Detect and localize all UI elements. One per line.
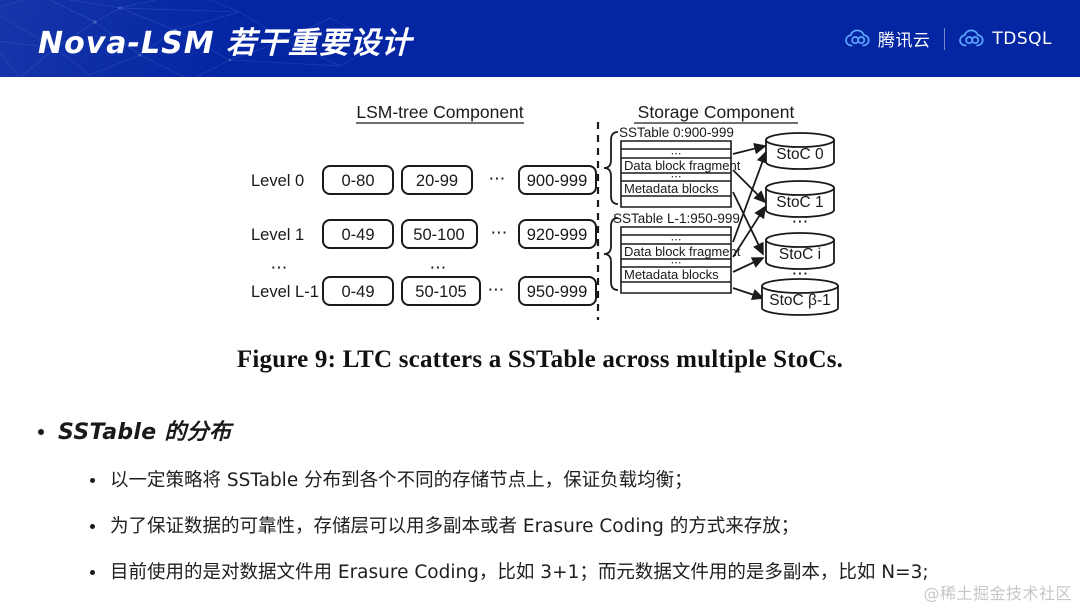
figure-caption: Figure 9: LTC scatters a SSTable across … xyxy=(0,346,1080,374)
lsm-box-l0-0-label: 0-80 xyxy=(341,172,374,190)
bullet-dot-icon xyxy=(90,478,95,483)
bullet-dot-icon xyxy=(38,429,44,435)
lsm-box-l0-last-label: 900-999 xyxy=(527,172,588,190)
lsm-level-0-label: Level 0 xyxy=(251,172,304,190)
bullet-item-2-label: 为了保证数据的可靠性，存储层可以用多副本或者 Erasure Coding 的方… xyxy=(110,516,799,537)
bullet-heading: SSTable 的分布 xyxy=(58,418,1080,448)
tencent-cloud-logo: 腾讯云 xyxy=(845,26,931,51)
storage-heading: Storage Component xyxy=(638,102,795,122)
lsm-level-l1-label: Level L-1 xyxy=(251,283,319,301)
sstable-0-row-3: Metadata blocks xyxy=(624,181,719,196)
bullet-dot-icon xyxy=(90,570,95,575)
sstable-0-brace xyxy=(604,132,618,204)
sstable-0-row-1: Data block fragment xyxy=(624,158,741,173)
stoc-i-label: StoC i xyxy=(779,246,821,263)
lsm-level-1-label: Level 1 xyxy=(251,226,304,244)
tencent-cloud-logo-label: 腾讯云 xyxy=(878,26,931,51)
lsm-gap-ellipsis-mid: ⋯ xyxy=(430,258,447,277)
page-title: Nova-LSM 若干重要设计 xyxy=(38,18,412,62)
tdsql-logo: TDSQL xyxy=(959,29,1052,49)
lsm-box-l0-1-label: 20-99 xyxy=(416,172,458,190)
lsm-box-ll-last-label: 950-999 xyxy=(527,283,588,301)
lsm-box-ll-1-label: 50-105 xyxy=(415,283,466,301)
sstable-l1-label: SSTable L-1:950-999 xyxy=(613,211,740,226)
tencent-cloud-logo-icon xyxy=(845,29,871,48)
sstable-l1-row-3: Metadata blocks xyxy=(624,267,719,282)
stoc-0-label: StoC 0 xyxy=(776,146,824,163)
lsm-box-l1-1-label: 50-100 xyxy=(413,226,464,244)
lsm-box-l1-last-label: 920-999 xyxy=(527,226,588,244)
page-header: Nova-LSM 若干重要设计 腾讯云 TDSQL xyxy=(0,0,1080,77)
stoc-beta-label: StoC β-1 xyxy=(769,292,830,309)
logo-divider xyxy=(944,28,945,50)
lsm-heading: LSM-tree Component xyxy=(356,102,523,122)
bullet-item-2: 为了保证数据的可靠性，存储层可以用多副本或者 Erasure Coding 的方… xyxy=(110,514,1080,540)
sstable-0-block: ⋯ Data block fragment ⋯ Metadata blocks xyxy=(621,141,741,207)
stoc-beta: StoC β-1 xyxy=(762,279,838,315)
bullet-item-1-label: 以一定策略将 SSTable 分布到各个不同的存储节点上，保证负载均衡； xyxy=(110,470,693,491)
sstable-l1-block: ⋯ Data block fragment ⋯ Metadata blocks xyxy=(621,227,741,293)
lsm-row-2-ellipsis: ⋯ xyxy=(488,280,505,299)
bullet-item-3-label: 目前使用的是对数据文件用 Erasure Coding，比如 3+1；而元数据文… xyxy=(110,562,929,583)
lsm-box-l1-0-label: 0-49 xyxy=(341,226,374,244)
stoc-ellipsis-0: ⋯ xyxy=(792,212,809,231)
stoc-0: StoC 0 xyxy=(766,133,834,169)
sstable-l1-brace xyxy=(604,218,618,290)
lsm-row-0-ellipsis: ⋯ xyxy=(489,169,506,188)
header-logos: 腾讯云 TDSQL xyxy=(845,0,1052,77)
stoc-1-label: StoC 1 xyxy=(776,194,823,211)
tdsql-logo-icon xyxy=(959,29,985,48)
bullet-dot-icon xyxy=(90,524,95,529)
lsm-gap-ellipsis-left: ⋯ xyxy=(271,258,288,277)
sstable-0-label: SSTable 0:900-999 xyxy=(619,125,734,140)
lsm-box-ll-0-label: 0-49 xyxy=(341,283,374,301)
watermark: @稀土掘金技术社区 xyxy=(923,580,1072,604)
bullet-heading-label: SSTable 的分布 xyxy=(58,420,231,445)
tdsql-logo-label: TDSQL xyxy=(992,29,1052,49)
lsm-row-1-ellipsis: ⋯ xyxy=(491,223,508,242)
content-bullets: SSTable 的分布 以一定策略将 SSTable 分布到各个不同的存储节点上… xyxy=(0,418,1080,586)
figure-9-diagram: LSM-tree Component Storage Component Lev… xyxy=(0,92,1080,327)
bullet-item-1: 以一定策略将 SSTable 分布到各个不同的存储节点上，保证负载均衡； xyxy=(110,468,1080,494)
sstable-l1-row-1: Data block fragment xyxy=(624,244,741,259)
